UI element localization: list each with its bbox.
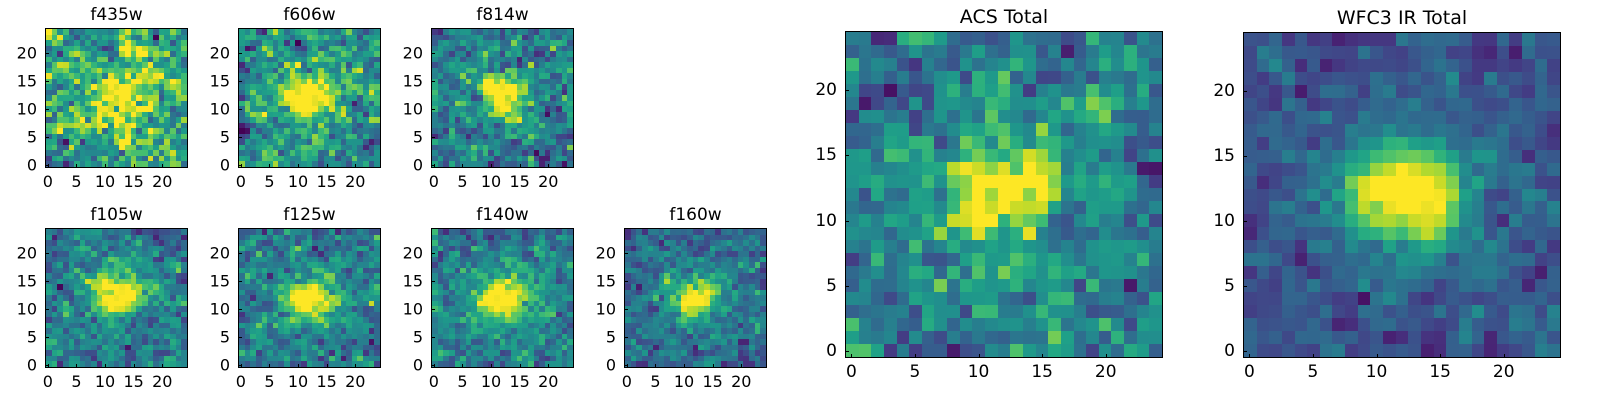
y-tick-label: 5 [1195, 276, 1235, 296]
y-tick-label: 15 [1195, 146, 1235, 166]
y-tick-label: 10 [1195, 211, 1235, 231]
x-tick-label: 15 [1429, 362, 1451, 382]
heatmap-wfc3-ir-total [1243, 32, 1561, 358]
x-tick-label: 0 [1244, 362, 1255, 382]
multi-panel-cutout-figure: f435w0055101015152020f606w00551010151520… [0, 0, 1600, 400]
y-tick [1243, 286, 1247, 287]
panel-wfc3-ir-total: WFC3 IR Total0055101015152020 [0, 0, 1600, 400]
x-tick-label: 5 [1308, 362, 1319, 382]
x-tick [1440, 354, 1441, 358]
x-tick [1249, 354, 1250, 358]
x-tick [1377, 354, 1378, 358]
x-tick-label: 20 [1493, 362, 1515, 382]
pixel-grid [1244, 33, 1560, 357]
x-tick [1313, 354, 1314, 358]
y-tick [1243, 91, 1247, 92]
y-tick [1243, 351, 1247, 352]
y-tick [1243, 156, 1247, 157]
y-tick [1243, 221, 1247, 222]
x-tick [1504, 354, 1505, 358]
panel-title-wfc3-ir-total: WFC3 IR Total [1243, 7, 1561, 29]
x-tick-label: 10 [1366, 362, 1388, 382]
y-tick-label: 20 [1195, 81, 1235, 101]
y-tick-label: 0 [1195, 341, 1235, 361]
